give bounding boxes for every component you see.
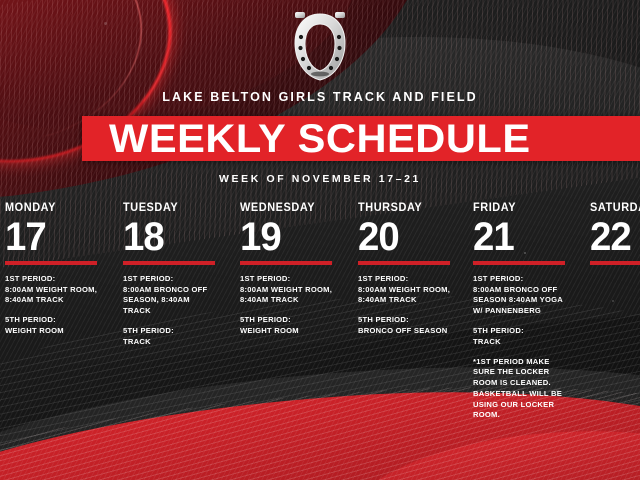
day-entries: 1ST PERIOD: 8:00AM WEIGHT ROOM, 8:40AM T… xyxy=(358,274,454,337)
day-date: 21 xyxy=(473,218,581,256)
day-date: 22 xyxy=(590,218,640,256)
weekly-schedule-poster: LAKE BELTON GIRLS TRACK AND FIELD WEEKLY… xyxy=(0,0,640,480)
day-divider xyxy=(358,261,450,265)
day-entry: 1ST PERIOD: 8:00AM BRONCO OFF SEASON, 8:… xyxy=(123,274,219,317)
day-entries: 1ST PERIOD: 8:00AM BRONCO OFF SEASON 8:4… xyxy=(473,274,569,421)
day-column-tuesday: TUESDAY 18 1ST PERIOD: 8:00AM BRONCO OFF… xyxy=(123,203,235,348)
day-name: THURSDAY xyxy=(358,203,464,215)
day-entry: 5TH PERIOD: TRACK xyxy=(123,326,219,348)
day-entry: 5TH PERIOD: TRACK xyxy=(473,326,569,348)
day-entry: 5TH PERIOD: WEIGHT ROOM xyxy=(240,315,336,337)
day-columns: MONDAY 17 1ST PERIOD: 8:00AM WEIGHT ROOM… xyxy=(0,203,640,480)
day-entry: 1ST PERIOD: 8:00AM WEIGHT ROOM, 8:40AM T… xyxy=(240,274,336,306)
day-entry: 5TH PERIOD: BRONCO OFF SEASON xyxy=(358,315,454,337)
day-divider xyxy=(123,261,215,265)
horseshoe-icon xyxy=(284,8,356,88)
day-column-saturday: SATURDAY 22 xyxy=(590,203,640,265)
day-name: MONDAY xyxy=(5,203,111,215)
day-column-wednesday: WEDNESDAY 19 1ST PERIOD: 8:00AM WEIGHT R… xyxy=(240,203,352,337)
day-name: TUESDAY xyxy=(123,203,229,215)
day-date: 20 xyxy=(358,218,466,256)
day-date: 18 xyxy=(123,218,231,256)
day-name: WEDNESDAY xyxy=(240,203,346,215)
day-name: FRIDAY xyxy=(473,203,579,215)
logo-container xyxy=(0,8,640,88)
day-divider xyxy=(473,261,565,265)
day-entry-note: *1ST PERIOD MAKE SURE THE LOCKER ROOM IS… xyxy=(473,357,569,422)
day-entries: 1ST PERIOD: 8:00AM WEIGHT ROOM, 8:40AM T… xyxy=(240,274,336,337)
day-column-thursday: THURSDAY 20 1ST PERIOD: 8:00AM WEIGHT RO… xyxy=(358,203,470,337)
week-range-label: WEEK OF NOVEMBER 17–21 xyxy=(0,173,640,185)
day-entry: 1ST PERIOD: 8:00AM BRONCO OFF SEASON 8:4… xyxy=(473,274,569,317)
day-entries: 1ST PERIOD: 8:00AM BRONCO OFF SEASON, 8:… xyxy=(123,274,219,348)
day-entry: 5TH PERIOD: WEIGHT ROOM xyxy=(5,315,101,337)
day-column-friday: FRIDAY 21 1ST PERIOD: 8:00AM BRONCO OFF … xyxy=(473,203,585,421)
day-column-monday: MONDAY 17 1ST PERIOD: 8:00AM WEIGHT ROOM… xyxy=(5,203,117,337)
day-date: 17 xyxy=(5,218,113,256)
day-entry: 1ST PERIOD: 8:00AM WEIGHT ROOM, 8:40AM T… xyxy=(358,274,454,306)
day-divider xyxy=(240,261,332,265)
title-banner: WEEKLY SCHEDULE xyxy=(82,116,640,161)
day-name: SATURDAY xyxy=(590,203,640,215)
team-name: LAKE BELTON GIRLS TRACK AND FIELD xyxy=(0,90,640,104)
day-entries: 1ST PERIOD: 8:00AM WEIGHT ROOM, 8:40AM T… xyxy=(5,274,101,337)
page-title: WEEKLY SCHEDULE xyxy=(82,119,531,159)
day-date: 19 xyxy=(240,218,348,256)
day-entry: 1ST PERIOD: 8:00AM WEIGHT ROOM, 8:40AM T… xyxy=(5,274,101,306)
day-divider xyxy=(5,261,97,265)
day-divider xyxy=(590,261,640,265)
